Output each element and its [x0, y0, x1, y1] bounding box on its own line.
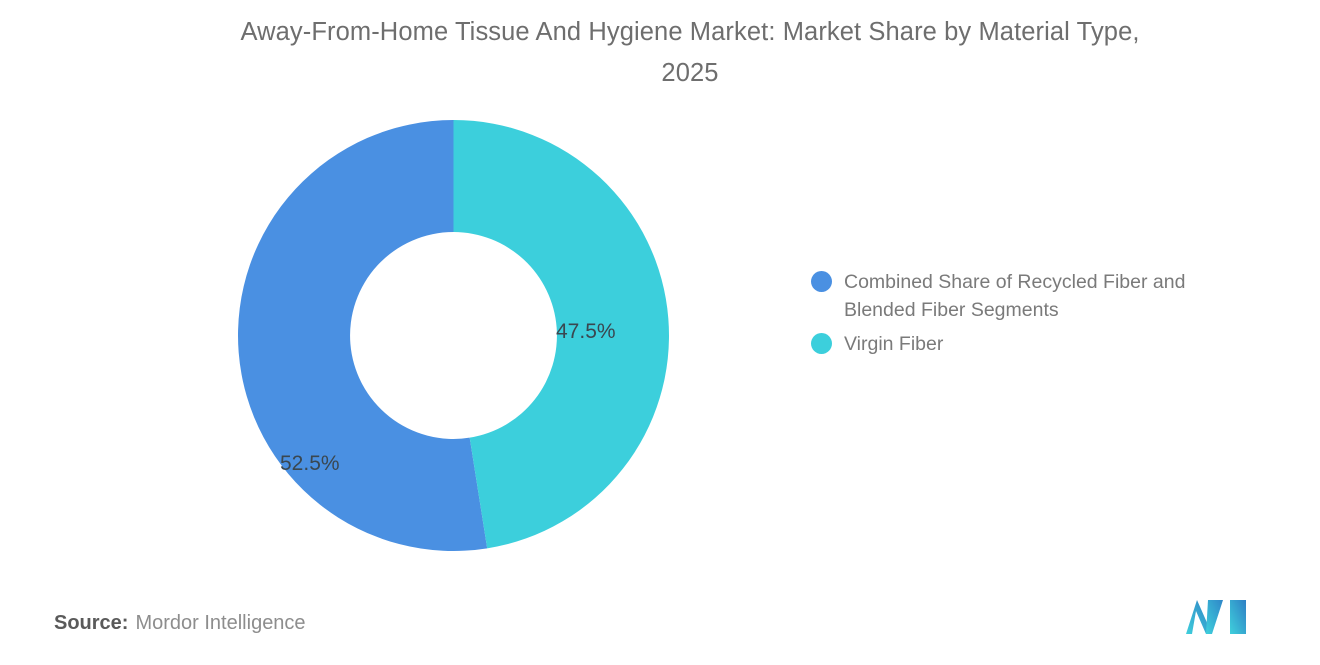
legend-label-combined-share: Combined Share of Recycled Fiber and Ble…: [844, 268, 1251, 324]
source-label: Source:: [54, 612, 128, 634]
source-line: Source:Mordor Intelligence: [54, 612, 306, 635]
legend-swatch-icon-virgin-fiber: [811, 333, 832, 354]
legend-label-virgin-fiber: Virgin Fiber: [844, 330, 943, 358]
chart-legend: Combined Share of Recycled Fiber and Ble…: [811, 268, 1251, 364]
legend-item-virgin-fiber[interactable]: Virgin Fiber: [811, 330, 1251, 358]
donut-slice-combined-share[interactable]: [238, 120, 487, 551]
chart-title: Away-From-Home Tissue And Hygiene Market…: [140, 12, 1240, 94]
donut-slice-label-combined-share: 52.5%: [280, 452, 340, 476]
donut-slice-label-virgin-fiber: 47.5%: [556, 320, 616, 344]
source-value: Mordor Intelligence: [135, 612, 305, 634]
donut-chart: 52.5% 47.5%: [238, 120, 669, 551]
legend-item-combined-share[interactable]: Combined Share of Recycled Fiber and Ble…: [811, 268, 1251, 324]
legend-swatch-icon-combined-share: [811, 271, 832, 292]
mordor-intelligence-logo-icon: [1186, 598, 1252, 636]
